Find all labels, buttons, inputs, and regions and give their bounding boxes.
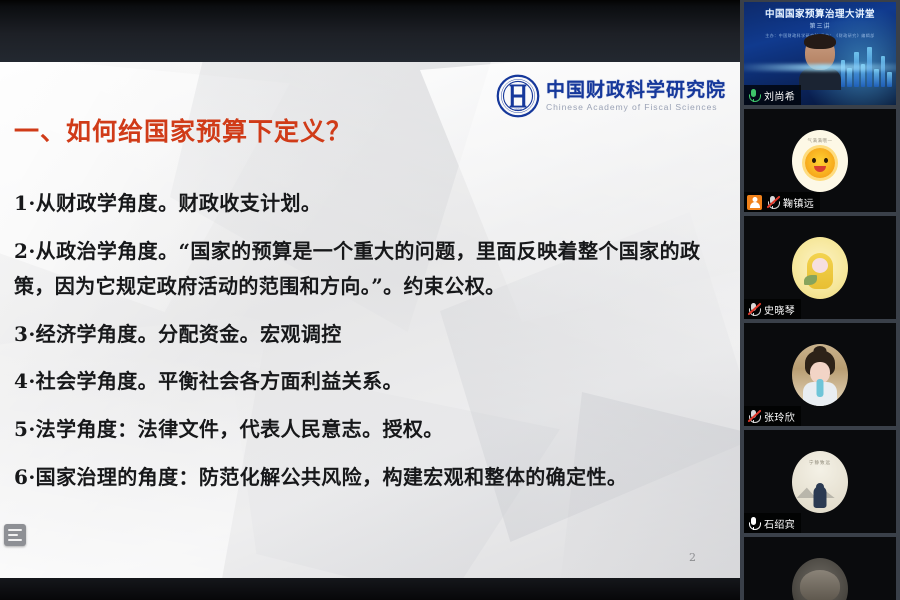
slide-bullet: 4·社会学角度。平衡社会各方面利益关系。 [14,364,716,400]
slide-menu-button[interactable] [4,524,26,546]
hamburger-line [8,534,18,536]
avatar: 宁静致远 [792,451,848,513]
participant-tile[interactable] [744,537,896,600]
svg-text:1956: 1956 [514,108,522,112]
participant-tile[interactable]: 史晓琴 [744,216,896,319]
avatar: 气满满哦一 [792,130,848,192]
presentation-slide[interactable]: 1956 中国财政科学研究院 Chinese Academy of Fiscal… [0,62,740,578]
shared-screen-bottom-letterbox [0,578,740,600]
avatar [792,237,848,299]
slide-page-number: 2 [689,551,696,564]
speaker-silhouette [800,36,840,88]
logo-english-name: Chinese Academy of Fiscal Sciences [546,103,726,112]
participant-name: 刘尚希 [764,88,795,103]
participant-nameplate: 史晓琴 [744,299,801,319]
participant-name: 史晓琴 [764,302,795,317]
microphone-muted-icon[interactable] [747,409,760,424]
slide-title: 一、如何给国家预算下定义？ [14,112,352,148]
logo-chinese-name: 中国财政科学研究院 [546,81,726,100]
participant-nameplate: 石绍宾 [744,513,801,533]
microphone-icon[interactable] [747,516,760,531]
logo-text-block: 中国财政科学研究院 Chinese Academy of Fiscal Scie… [546,81,726,112]
sun-face-icon [805,148,835,178]
avatar-caption: 宁静致远 [792,460,848,466]
institution-logo: 1956 中国财政科学研究院 Chinese Academy of Fiscal… [496,74,726,118]
shared-screen-region[interactable]: 1956 中国财政科学研究院 Chinese Academy of Fiscal… [0,0,740,600]
meeting-window: 1956 中国财政科学研究院 Chinese Academy of Fiscal… [0,0,900,600]
hamburger-line [8,529,22,531]
slide-body: 1·从财政学角度。财政收支计划。 2·从政治学角度。“国家的预算是一个重大的问题… [14,186,716,507]
shared-screen-top-letterbox [0,0,740,62]
host-badge-icon [747,195,762,210]
avatar [792,344,848,406]
slide-bullet: 3·经济学角度。分配资金。宏观调控 [14,317,716,353]
participant-tile[interactable]: 中国国家预算治理大讲堂 第三讲 主办：中国财政科学研究院 承办：《财政研究》编辑… [744,2,896,105]
participant-filmstrip[interactable]: 中国国家预算治理大讲堂 第三讲 主办：中国财政科学研究院 承办：《财政研究》编辑… [740,0,900,600]
microphone-muted-icon[interactable] [747,302,760,317]
avatar-caption: 气满满哦一 [792,138,848,144]
microphone-icon[interactable] [747,88,760,103]
slide-bullet: 5·法学角度：法律文件，代表人民意志。授权。 [14,412,716,448]
video-light-streak [744,64,896,71]
participant-name: 石绍宾 [764,516,795,531]
slide-bullet: 1·从财政学角度。财政收支计划。 [14,186,716,222]
participant-nameplate: 张玲欣 [744,406,801,426]
microphone-muted-icon[interactable] [766,195,779,210]
participant-tile[interactable]: 宁静致远 石绍宾 [744,430,896,533]
participant-nameplate: 刘尚希 [744,85,801,105]
hamburger-line [8,539,22,541]
participant-tile[interactable]: 张玲欣 [744,323,896,426]
video-banner-title: 中国国家预算治理大讲堂 [744,6,896,20]
participant-name: 张玲欣 [764,409,795,424]
participant-tile[interactable]: 气满满哦一 鞠镇远 [744,109,896,212]
participant-avatar [744,537,896,600]
avatar [792,558,848,600]
video-banner-subtitle: 第三讲 [744,21,896,30]
participant-name: 鞠镇远 [783,195,814,210]
slide-bullet: 2·从政治学角度。“国家的预算是一个重大的问题，里面反映着整个国家的政策，因为它… [14,234,716,305]
participant-nameplate: 鞠镇远 [744,192,820,212]
slide-bullet: 6·国家治理的角度：防范化解公共风险，构建宏观和整体的确定性。 [14,460,716,496]
cafs-emblem-icon: 1956 [496,74,540,118]
